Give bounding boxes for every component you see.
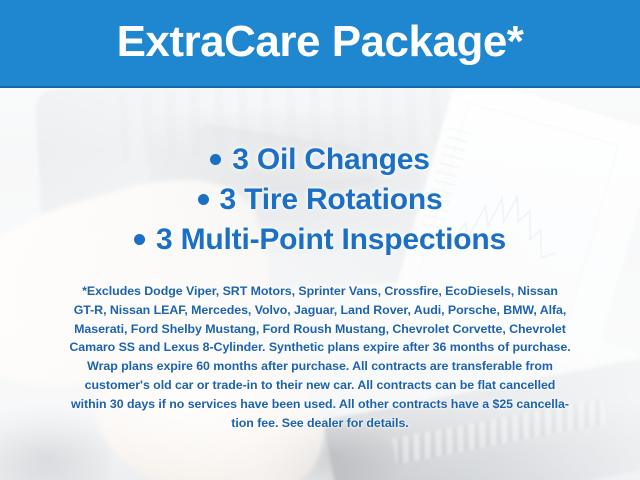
- benefit-label: 3 Multi-Point Inspections: [156, 223, 506, 256]
- benefit-item: 3 Oil Changes: [0, 140, 640, 180]
- benefit-item: 3 Tire Rotations: [0, 180, 640, 220]
- benefits-list: 3 Oil Changes 3 Tire Rotations 3 Multi-P…: [0, 140, 640, 260]
- disclaimer-line: GT-R, Nissan LEAF, Mercedes, Volvo, Jagu…: [28, 301, 612, 320]
- disclaimer-line: tion fee. See dealer for details.: [28, 414, 612, 433]
- bullet-dot-icon: [134, 234, 145, 245]
- disclaimer-line: Wrap plans expire 60 months after purcha…: [28, 357, 612, 376]
- benefit-item: 3 Multi-Point Inspections: [0, 220, 640, 260]
- page-title: ExtraCare Package*: [117, 20, 524, 66]
- bullet-dot-icon: [198, 194, 209, 205]
- disclaimer-text: *Excludes Dodge Viper, SRT Motors, Sprin…: [28, 282, 612, 432]
- benefit-label: 3 Oil Changes: [232, 143, 429, 176]
- disclaimer-line: *Excludes Dodge Viper, SRT Motors, Sprin…: [28, 282, 612, 301]
- disclaimer-line: within 30 days if no services have been …: [28, 395, 612, 414]
- content-layer: 3 Oil Changes 3 Tire Rotations 3 Multi-P…: [0, 88, 640, 480]
- disclaimer-line: customer's old car or trade-in to their …: [28, 376, 612, 395]
- bullet-dot-icon: [210, 154, 221, 165]
- benefit-label: 3 Tire Rotations: [220, 183, 443, 216]
- header-banner: ExtraCare Package*: [0, 0, 640, 88]
- extracare-promo-banner: ExtraCare Package* 3 Oil Changes 3 Tire …: [0, 0, 640, 480]
- disclaimer-line: Maserati, Ford Shelby Mustang, Ford Rous…: [28, 320, 612, 339]
- disclaimer-line: Camaro SS and Lexus 8-Cylinder. Syntheti…: [28, 338, 612, 357]
